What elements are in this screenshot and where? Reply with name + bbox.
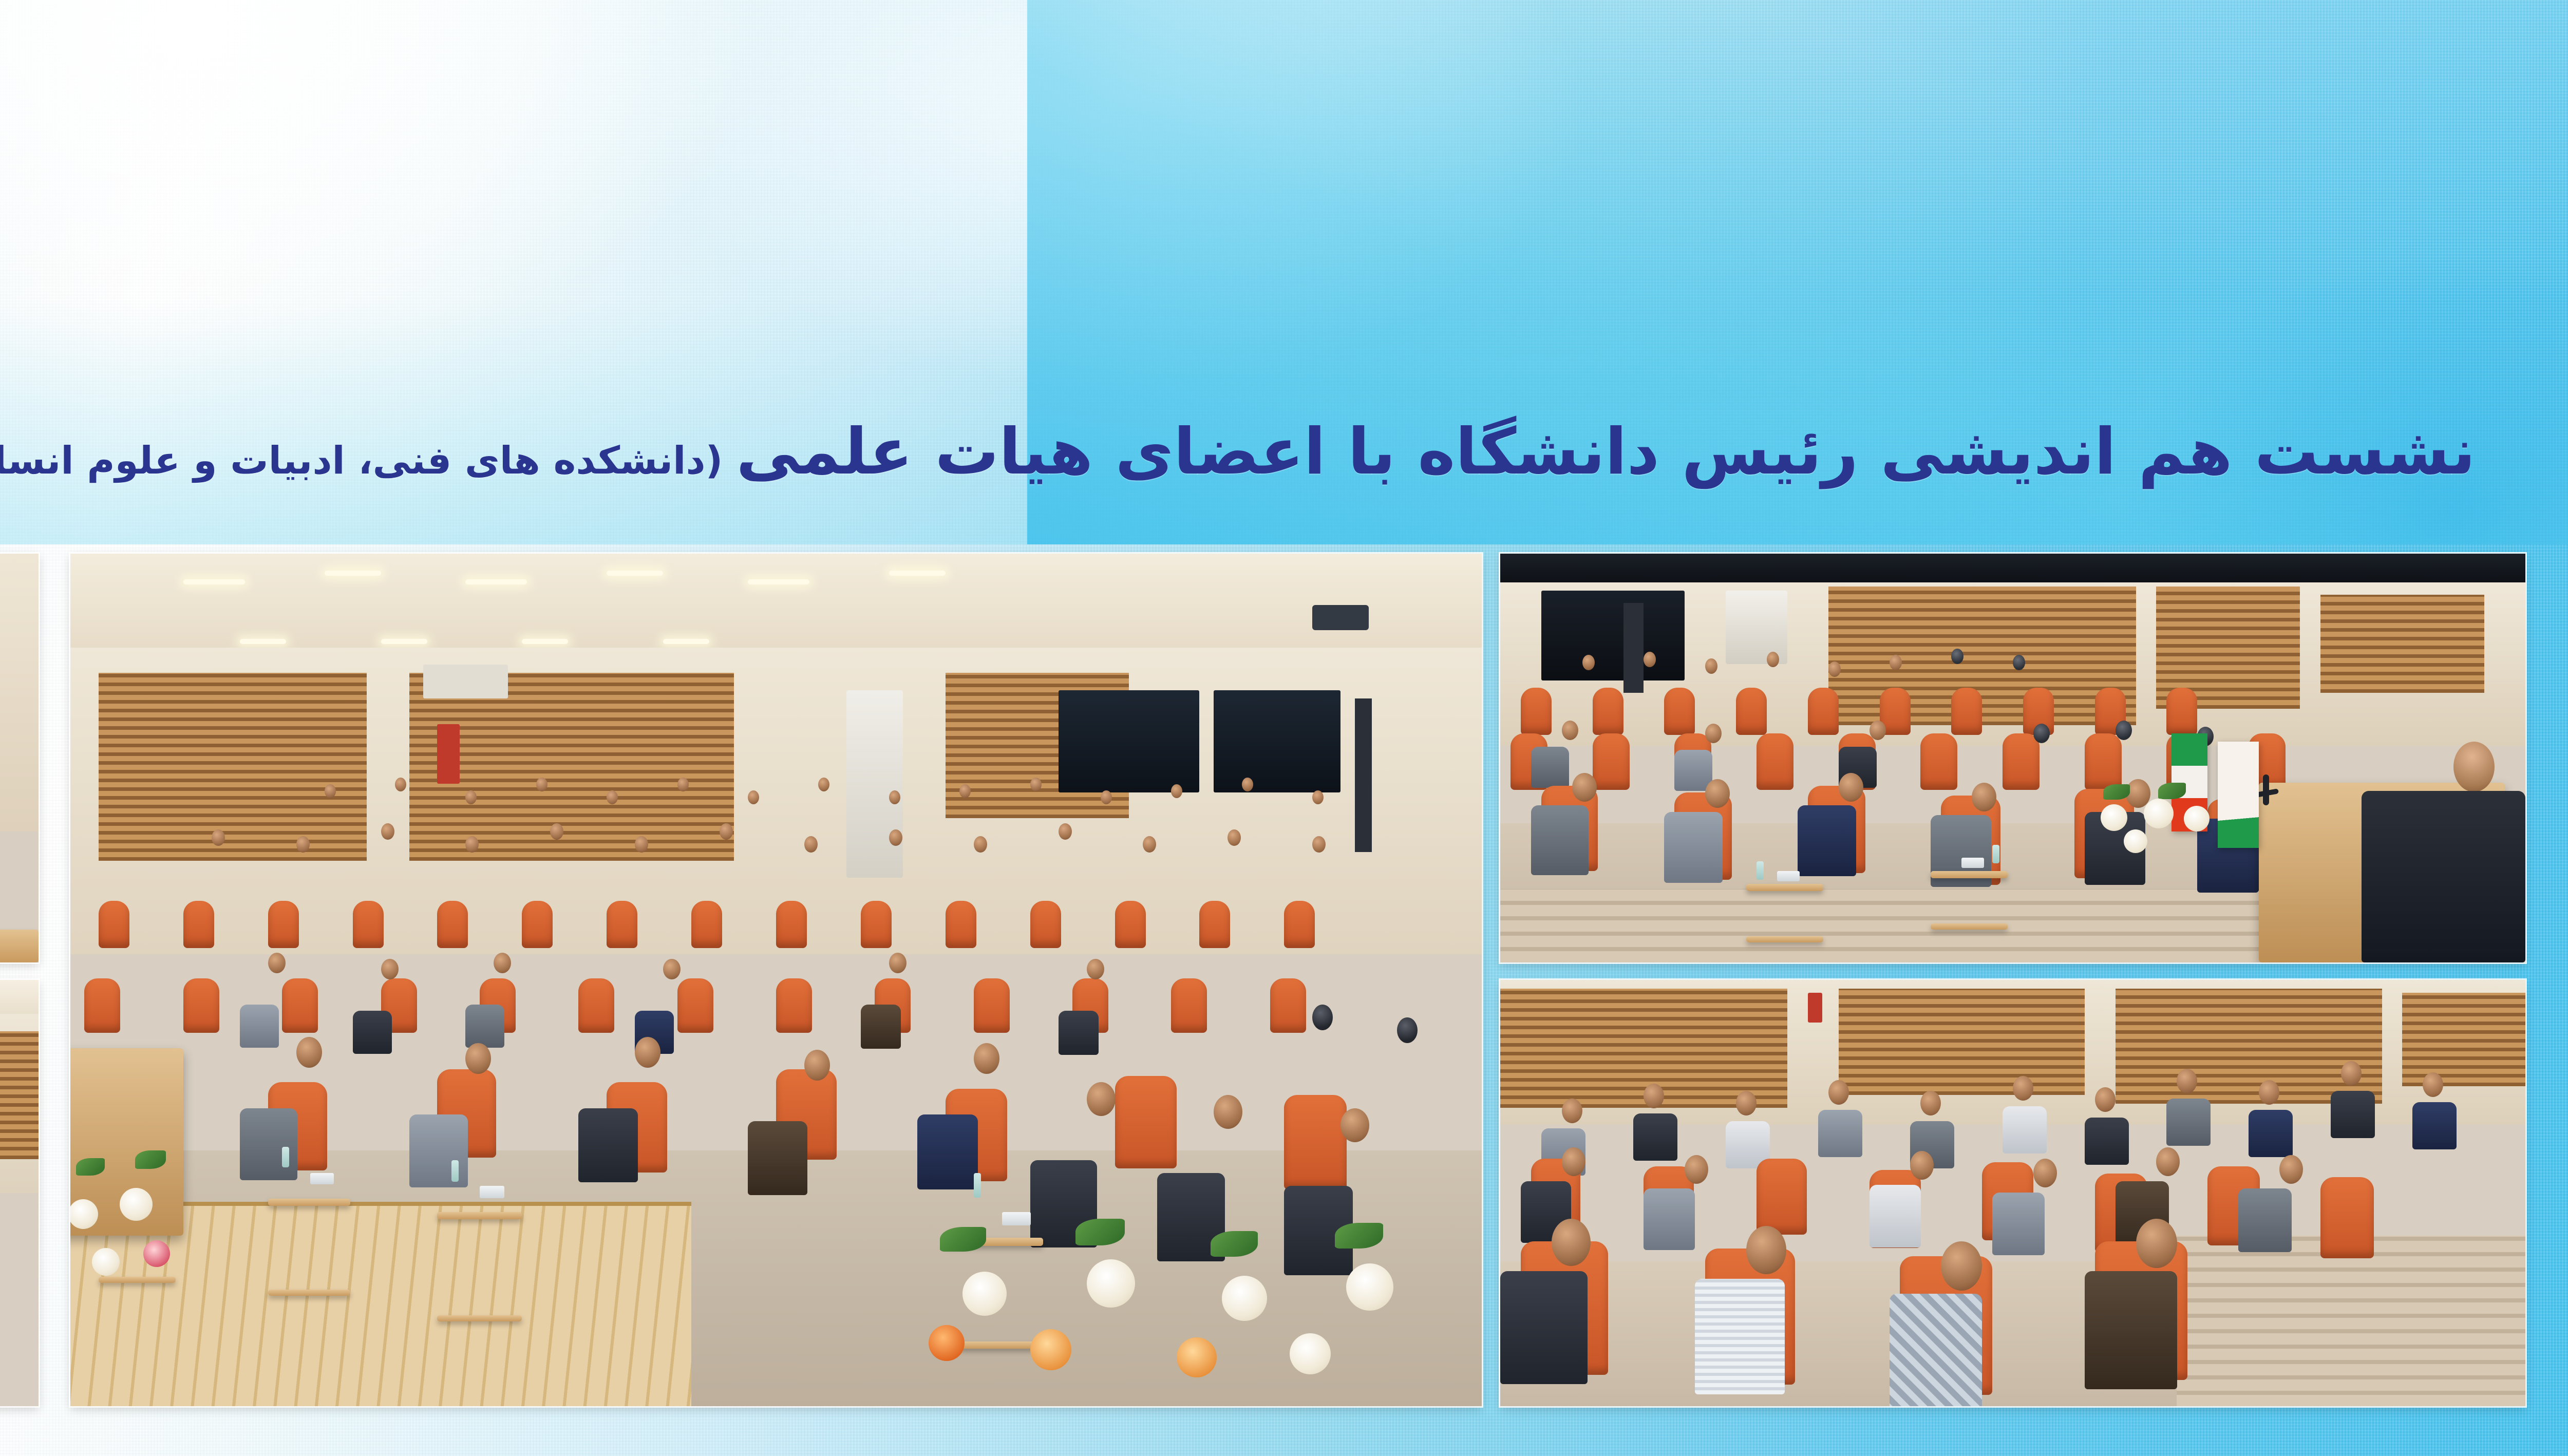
photo-gallery-grid [0,554,2525,1406]
photo-top-left[interactable] [0,554,39,962]
banner-title-parenthetical: (دانشکده های فنی، ادبیات و علوم انسانی، … [0,442,723,480]
event-banner: دانشگاه گیلان روابط عمومی دانشگاه گیلان … [0,0,2568,1456]
banner-header: دانشگاه گیلان روابط عمومی دانشگاه گیلان … [0,0,2568,544]
banner-title-main: نشست هم اندیشی رئیس دانشگاه با اعضای هیا… [736,420,2476,484]
photo-top-right[interactable] [1500,554,2525,962]
photo-center[interactable] [70,554,1482,1406]
banner-title-row: نشست هم اندیشی رئیس دانشگاه با اعضای هیا… [0,420,2476,518]
photo-bottom-left[interactable] [0,980,39,1406]
photo-bottom-right[interactable] [1500,980,2525,1406]
